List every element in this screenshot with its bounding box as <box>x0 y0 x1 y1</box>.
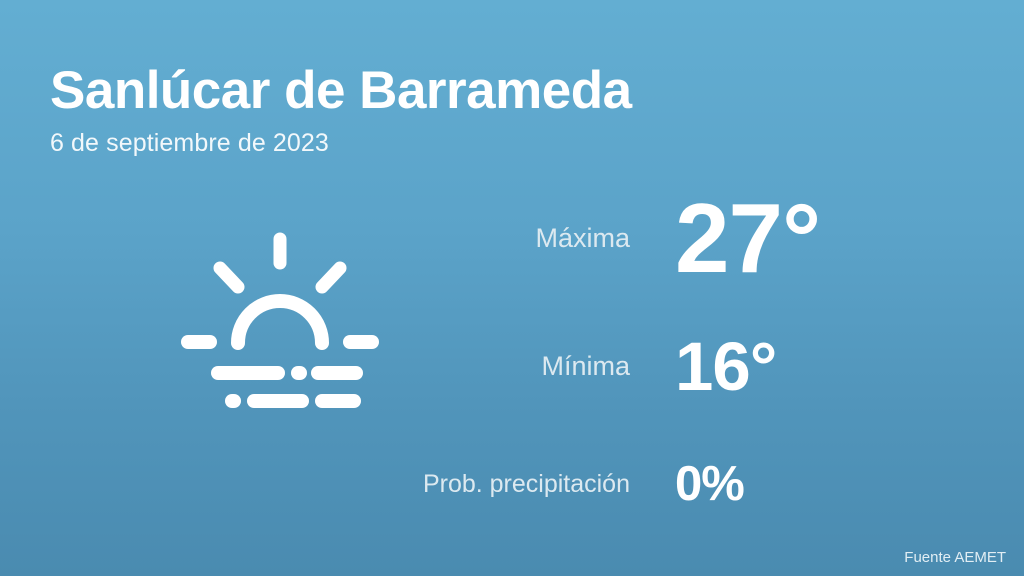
stat-row-minima: Mínima 16° <box>400 298 960 434</box>
stat-row-maxima: Máxima 27° <box>400 178 960 298</box>
stat-label-precipitacion: Prob. precipitación <box>400 470 675 499</box>
stat-value-maxima: 27° <box>675 189 960 287</box>
weather-icon-container <box>170 225 390 415</box>
header: Sanlúcar de Barrameda 6 de septiembre de… <box>50 62 632 158</box>
page-title: Sanlúcar de Barrameda <box>50 62 632 119</box>
forecast-stats: Máxima 27° Mínima 16° Prob. precipitació… <box>400 178 960 534</box>
stat-value-minima: 16° <box>675 332 960 401</box>
source-attribution: Fuente AEMET <box>904 549 1006 566</box>
sun-haze-icon <box>170 225 390 415</box>
stat-label-minima: Mínima <box>400 351 675 382</box>
stat-row-precipitacion: Prob. precipitación 0% <box>400 434 960 534</box>
stat-value-precipitacion: 0% <box>675 460 960 509</box>
forecast-date: 6 de septiembre de 2023 <box>50 129 632 158</box>
stat-label-maxima: Máxima <box>400 223 675 254</box>
